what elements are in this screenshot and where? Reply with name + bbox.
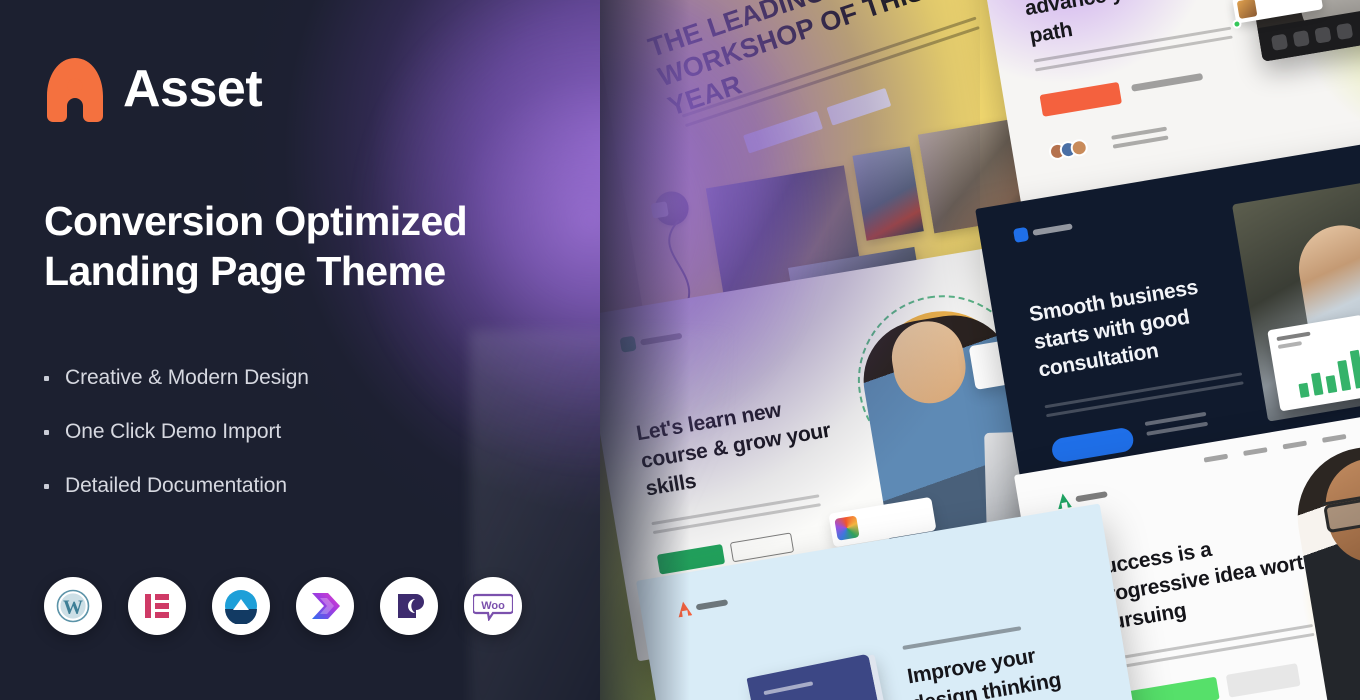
feature-label: One Click Demo Import	[65, 420, 281, 444]
headline-line-2: Landing Page Theme	[44, 246, 584, 296]
svg-text:W: W	[63, 597, 83, 619]
bullet-dot-icon	[44, 484, 49, 489]
astra-mountain-icon[interactable]	[212, 577, 270, 635]
list-item: One Click Demo Import	[44, 420, 309, 444]
hero-content: Asset Conversion Optimized Landing Page …	[0, 0, 600, 700]
bullet-dot-icon	[44, 376, 49, 381]
page-title: Conversion Optimized Landing Page Theme	[44, 196, 584, 296]
crescent-moon-icon[interactable]	[380, 577, 438, 635]
promo-banner: THE LEADING DIGITAL WORKSHOP OF THIS YEA…	[0, 0, 1360, 700]
bullet-dot-icon	[44, 430, 49, 435]
preview-subtext	[1045, 372, 1245, 423]
chart-bars	[1280, 348, 1360, 401]
woocommerce-icon[interactable]: Woo	[464, 577, 522, 635]
feature-label: Detailed Documentation	[65, 474, 287, 498]
list-item: Creative & Modern Design	[44, 366, 309, 390]
bar-chart-card	[1267, 315, 1360, 412]
preview-phone-info	[1145, 412, 1209, 442]
preview-headline-consultation: Smooth business starts with good consult…	[1027, 266, 1254, 384]
preview-logo	[1013, 219, 1074, 243]
headline-line-1: Conversion Optimized	[44, 196, 584, 246]
brand-lockup: Asset	[44, 56, 262, 122]
list-item: Detailed Documentation	[44, 474, 309, 498]
asset-arch-logo-icon	[44, 56, 106, 122]
svg-text:Woo: Woo	[481, 600, 505, 612]
wordpress-icon[interactable]: W	[44, 577, 102, 635]
feature-list: Creative & Modern Design One Click Demo …	[44, 366, 309, 528]
brand-name: Asset	[123, 63, 262, 115]
feature-label: Creative & Modern Design	[65, 366, 309, 390]
compatibility-badges: W	[44, 577, 522, 635]
elementor-icon[interactable]	[128, 577, 186, 635]
dynamic-arrow-icon[interactable]	[296, 577, 354, 635]
